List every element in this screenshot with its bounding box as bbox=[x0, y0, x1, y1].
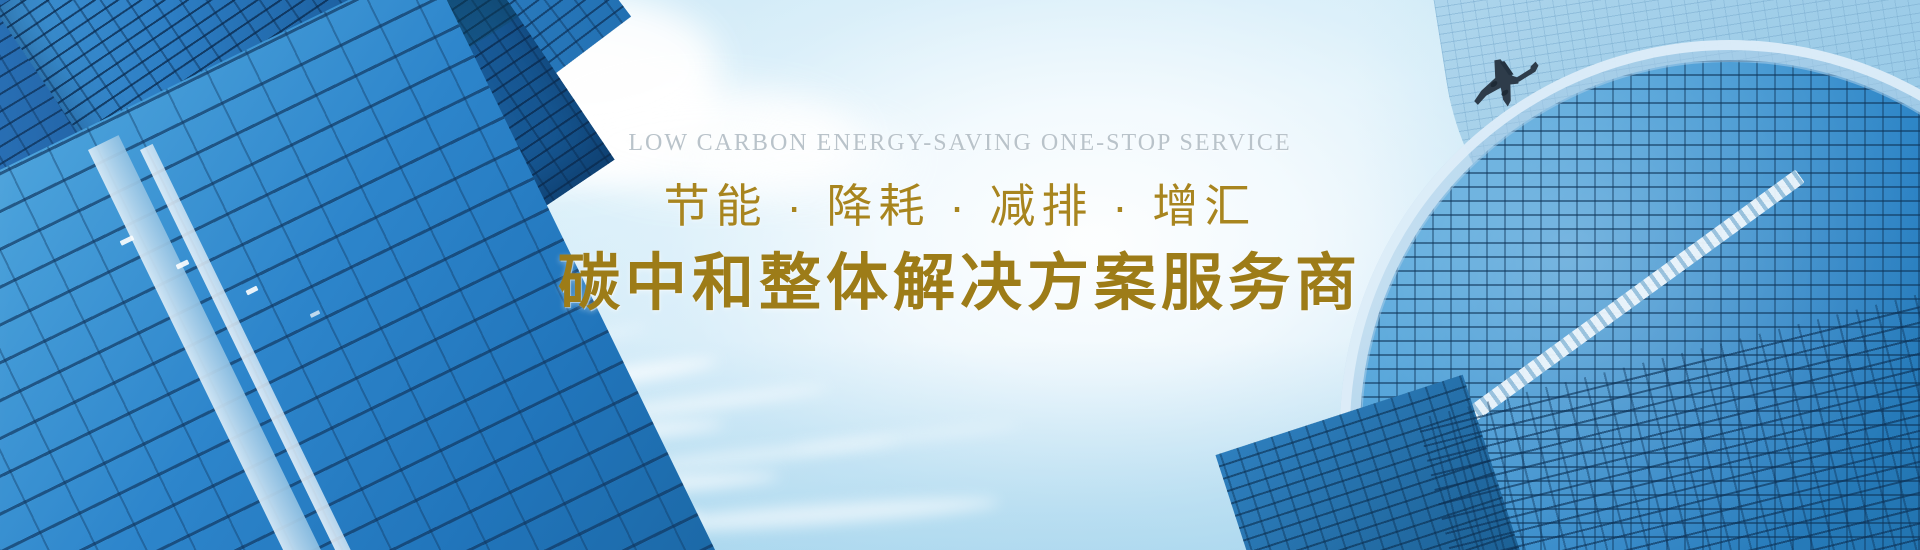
cloud-cumulus bbox=[690, 118, 910, 196]
hero-banner: LOW CARBON ENERGY-SAVING ONE-STOP SERVIC… bbox=[0, 0, 1920, 550]
skyscrapers-left bbox=[0, 0, 520, 550]
skyscrapers-right bbox=[1300, 0, 1920, 550]
